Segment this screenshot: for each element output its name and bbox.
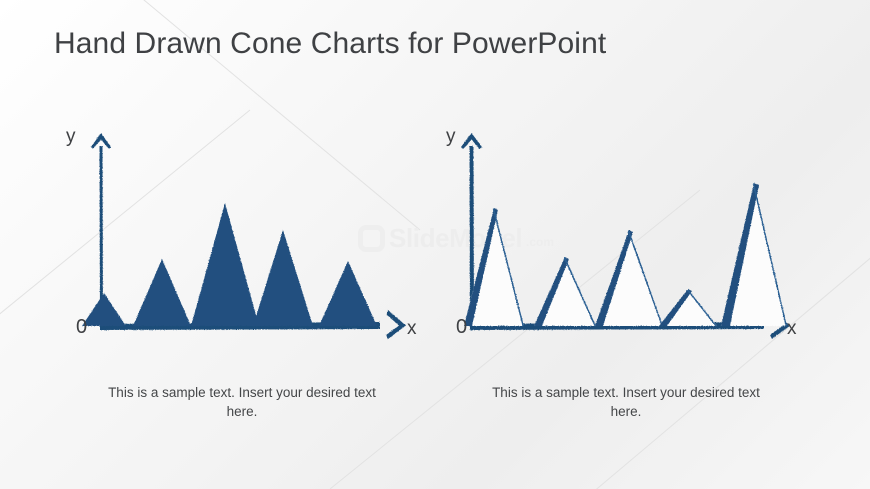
chart-right-plot (442, 120, 812, 360)
cone-3 (595, 230, 663, 326)
page-title: Hand Drawn Cone Charts for PowerPoint (54, 27, 606, 61)
origin-label: 0 (76, 316, 87, 339)
chart-right[interactable]: y 0 x (442, 120, 812, 360)
cone-5 (319, 261, 377, 326)
cone-4 (253, 230, 313, 326)
cone-1 (82, 293, 126, 326)
x-axis-label: x (787, 318, 797, 340)
y-axis-label: y (66, 126, 76, 148)
cone-2 (133, 259, 191, 326)
y-axis-label: y (446, 126, 456, 148)
cone-5 (721, 183, 787, 326)
origin-label: 0 (456, 316, 467, 339)
caption-right: This is a sample text. Insert your desir… (476, 383, 776, 421)
x-axis-label: x (407, 318, 417, 340)
cone-4 (659, 289, 717, 326)
slide-canvas: Hand Drawn Cone Charts for PowerPoint Sl… (0, 0, 870, 489)
chart-left[interactable]: y 0 x (62, 120, 432, 360)
caption-left: This is a sample text. Insert your desir… (92, 383, 392, 421)
chart-left-plot (62, 120, 432, 360)
cone-2 (534, 257, 596, 326)
cone-3 (191, 203, 259, 326)
